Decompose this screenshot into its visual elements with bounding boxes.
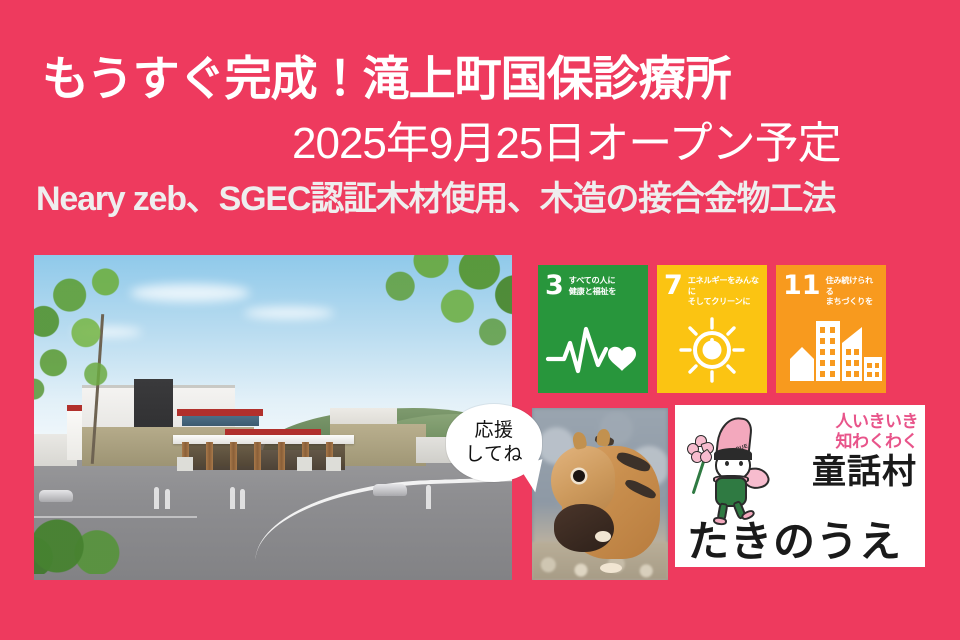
poster-root: もうすぐ完成！滝上町国保診療所 2025年9月25日オープン予定 Neary z…	[0, 0, 960, 640]
figure	[154, 487, 159, 509]
sdg-badge-row: 3 すべての人に 健康と福祉を 7 エネルギーをみんなに そしてクリーンに	[538, 265, 886, 393]
clinic-render-photo	[34, 255, 512, 580]
sdg-badge-header: 11 住み続けられる まちづくりを	[776, 265, 886, 308]
sdg-badge-3[interactable]: 3 すべての人に 健康と福祉を	[538, 265, 648, 393]
mascot-shoe	[713, 516, 728, 526]
parked-car	[39, 490, 73, 502]
column-base	[326, 457, 341, 472]
mascot-eye	[725, 461, 729, 466]
sdg-caption: 住み続けられる まちづくりを	[826, 274, 880, 308]
takinoue-town-logo: 人いきいき 知わくわく 童話村 たきのうえ TAKINOUE	[675, 405, 925, 567]
sdg-number: 11	[783, 274, 821, 297]
tree-foliage-right	[321, 255, 512, 392]
column-base	[177, 457, 192, 472]
seed-nut	[554, 504, 614, 552]
parked-car	[373, 484, 407, 496]
mascot-eye	[739, 461, 743, 466]
sdg-number: 3	[545, 274, 564, 297]
bush	[34, 518, 144, 573]
tree-foliage-left	[34, 265, 187, 454]
sdg-caption-line-2: 健康と福祉を	[569, 287, 616, 296]
chipmunk-photo	[532, 408, 668, 580]
sdg-caption-line-2: まちづくりを	[826, 297, 873, 306]
fairy-mascot-icon: TAKINOUE	[687, 417, 775, 525]
headline-line-2: 2025年9月25日オープン予定	[292, 122, 841, 166]
speech-bubble: 応援 してね	[446, 404, 542, 482]
logo-tagline: 人いきいき 知わくわく	[836, 412, 919, 452]
column-base	[297, 457, 312, 472]
sdg-badge-header: 7 エネルギーをみんなに そしてクリーンに	[657, 265, 767, 308]
sdg-badge-header: 3 すべての人に 健康と福祉を	[538, 265, 648, 297]
heartbeat-icon	[538, 313, 648, 387]
timber-column	[254, 442, 261, 470]
speech-bubble-line-1: 応援	[474, 420, 513, 441]
logo-tagline-line-1: 人いきいき	[836, 412, 919, 432]
speech-bubble-text: 応援 してね	[465, 419, 523, 467]
sdg-caption-line-1: 住み続けられる	[826, 276, 873, 296]
sdg-caption-line-1: エネルギーをみんなに	[688, 276, 759, 296]
sdg-caption: すべての人に 健康と福祉を	[569, 274, 616, 297]
logo-tagline-line-2: 知わくわく	[836, 432, 919, 452]
sun-power-icon	[657, 313, 767, 387]
sdg-caption-line-2: そしてクリーンに	[688, 297, 750, 306]
sdg-number: 7	[664, 274, 683, 297]
sdg-badge-7[interactable]: 7 エネルギーをみんなに そしてクリーンに	[657, 265, 767, 393]
logo-subtitle: たきのうえ	[687, 521, 902, 563]
chipmunk-paw	[595, 531, 611, 542]
logo-title: 童話村	[812, 455, 917, 489]
timber-column	[230, 442, 237, 470]
sdg-caption: エネルギーをみんなに そしてクリーンに	[688, 274, 761, 308]
figure	[165, 489, 170, 509]
timber-column	[206, 442, 213, 470]
building-right-wing	[330, 424, 426, 466]
window-band	[182, 416, 258, 426]
figure	[240, 489, 245, 509]
chipmunk-eye	[573, 470, 585, 482]
timber-column	[278, 442, 285, 470]
cherry-blossom-icon	[687, 435, 715, 463]
headline-line-3: Neary zeb、SGEC認証木材使用、木造の接合金物工法	[36, 182, 835, 216]
mascot-hair	[714, 448, 752, 460]
figure	[230, 487, 235, 509]
sdg-badge-11[interactable]: 11 住み続けられる まちづくりを	[776, 265, 886, 393]
headline-line-1: もうすぐ完成！滝上町国保診療所	[42, 55, 731, 102]
city-buildings-icon	[776, 313, 886, 387]
sdg-caption-line-1: すべての人に	[569, 276, 615, 285]
speech-bubble-line-2: してね	[465, 444, 523, 465]
figure	[426, 485, 431, 509]
